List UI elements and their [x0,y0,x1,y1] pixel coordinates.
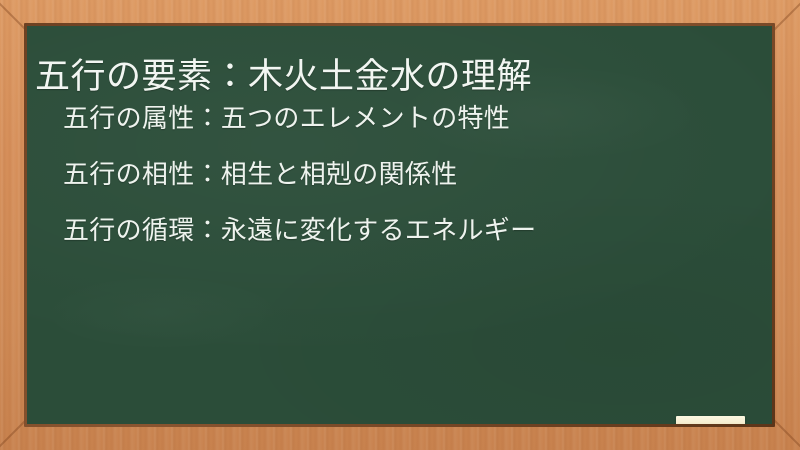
chalkboard-surface: 五行の要素：木火土金水の理解 五行の属性：五つのエレメントの特性 五行の相性：相… [27,26,772,424]
list-item: 五行の循環：永遠に変化するエネルギー [63,216,756,245]
blackboard-slide: 五行の要素：木火土金水の理解 五行の属性：五つのエレメントの特性 五行の相性：相… [0,0,800,450]
list-item: 五行の相性：相生と相剋の関係性 [63,160,756,189]
list-item: 五行の属性：五つのエレメントの特性 [63,104,756,133]
bullet-list: 五行の属性：五つのエレメントの特性 五行の相性：相生と相剋の関係性 五行の循環：… [63,104,756,245]
page-title: 五行の要素：木火土金水の理解 [35,57,760,97]
chalk-stick [676,416,745,424]
